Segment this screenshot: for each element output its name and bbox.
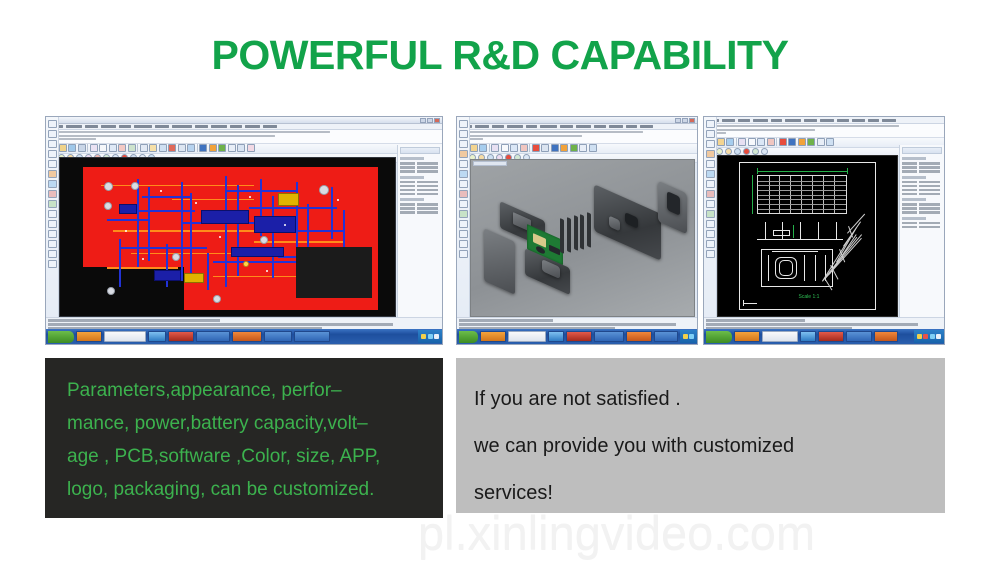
- cad-drawing-viewport[interactable]: Scale 1:1: [717, 155, 898, 317]
- tool-icon[interactable]: [128, 144, 136, 152]
- tool-icon[interactable]: [459, 140, 468, 148]
- tool-icon[interactable]: [767, 138, 775, 146]
- tool-icon[interactable]: [459, 220, 468, 228]
- taskbar-item[interactable]: [104, 331, 146, 342]
- tray-icon[interactable]: [936, 334, 941, 339]
- taskbar[interactable]: [704, 329, 944, 344]
- tool-icon[interactable]: [459, 160, 468, 168]
- tool-icon[interactable]: [779, 138, 787, 146]
- tool-icon[interactable]: [706, 200, 715, 208]
- tool-icon[interactable]: [716, 148, 723, 155]
- tool-icon[interactable]: [459, 180, 468, 188]
- tool-icon[interactable]: [706, 240, 715, 248]
- taskbar-item[interactable]: [734, 331, 760, 342]
- tool-icon[interactable]: [78, 144, 86, 152]
- cad-3d-viewport[interactable]: [470, 159, 695, 317]
- tool-icon[interactable]: [570, 144, 578, 152]
- screenshot-pcb-layout-software[interactable]: [45, 116, 443, 345]
- tool-icon[interactable]: [798, 138, 806, 146]
- system-tray[interactable]: [418, 330, 442, 343]
- tool-icon[interactable]: [68, 144, 76, 152]
- tool-icon[interactable]: [48, 220, 57, 228]
- minimize-icon[interactable]: [675, 118, 681, 123]
- start-button[interactable]: [459, 331, 478, 343]
- taskbar-item[interactable]: [846, 331, 872, 342]
- tool-icon[interactable]: [470, 144, 478, 152]
- page-title: POWERFUL R&D CAPABILITY: [0, 32, 1000, 79]
- slide-root: POWERFUL R&D CAPABILITY: [0, 0, 1000, 572]
- screenshot-3d-cad-exploded-view[interactable]: [456, 116, 698, 345]
- taskbar-item[interactable]: [232, 331, 262, 342]
- tool-icon[interactable]: [551, 144, 559, 152]
- status-bar: [704, 317, 944, 329]
- tool-icon[interactable]: [706, 180, 715, 188]
- tool-icon[interactable]: [706, 220, 715, 228]
- taskbar-item[interactable]: [294, 331, 330, 342]
- panel-text-line: If you are not satisfied .: [474, 376, 945, 423]
- window-titlebar: [457, 117, 697, 124]
- properties-pane[interactable]: [899, 145, 944, 317]
- taskbar-item[interactable]: [548, 331, 564, 342]
- left-tool-rail[interactable]: [704, 117, 717, 344]
- address-rows: [46, 130, 442, 144]
- taskbar-item[interactable]: [264, 331, 292, 342]
- tool-icon[interactable]: [118, 144, 126, 152]
- tool-icon[interactable]: [706, 190, 715, 198]
- pane-header: [902, 147, 942, 154]
- tool-icon[interactable]: [48, 130, 57, 138]
- grid-panel: [757, 175, 847, 213]
- start-button[interactable]: [48, 331, 74, 343]
- status-bar: [457, 317, 697, 329]
- tool-icon[interactable]: [159, 144, 167, 152]
- tool-icon[interactable]: [459, 230, 468, 238]
- tool-icon[interactable]: [48, 250, 57, 258]
- tool-icon[interactable]: [48, 120, 57, 128]
- pcb-board: [83, 167, 378, 309]
- tool-icon[interactable]: [218, 144, 226, 152]
- tool-icon[interactable]: [459, 150, 468, 158]
- left-tool-rail[interactable]: [46, 117, 59, 344]
- tool-icon[interactable]: [48, 260, 57, 268]
- taskbar-item[interactable]: [874, 331, 898, 342]
- taskbar[interactable]: [457, 329, 697, 344]
- taskbar-item[interactable]: [818, 331, 844, 342]
- properties-pane[interactable]: [397, 145, 442, 317]
- tool-icon[interactable]: [826, 138, 834, 146]
- tool-icon[interactable]: [237, 144, 245, 152]
- tool-icon[interactable]: [140, 144, 148, 152]
- tool-icon[interactable]: [520, 144, 528, 152]
- start-button[interactable]: [706, 331, 732, 343]
- panel-text-line: mance, power,battery capacity,volt–: [67, 407, 425, 440]
- panel-text-line: we can provide you with customized: [474, 423, 945, 470]
- tool-icon[interactable]: [706, 160, 715, 168]
- tool-icon[interactable]: [748, 138, 756, 146]
- taskbar-item[interactable]: [566, 331, 592, 342]
- system-tray[interactable]: [680, 330, 698, 343]
- taskbar-item[interactable]: [626, 331, 652, 342]
- tool-icon[interactable]: [459, 170, 468, 178]
- tray-icon[interactable]: [683, 334, 688, 339]
- tool-icon[interactable]: [48, 200, 57, 208]
- tool-icon[interactable]: [48, 190, 57, 198]
- system-tray[interactable]: [914, 330, 945, 343]
- maximize-icon[interactable]: [682, 118, 688, 123]
- taskbar-item[interactable]: [654, 331, 678, 342]
- tray-icon[interactable]: [689, 334, 694, 339]
- tool-icon[interactable]: [48, 160, 57, 168]
- viewport-tab[interactable]: [473, 161, 507, 166]
- toolbar-primary[interactable]: [457, 144, 697, 154]
- tool-icon[interactable]: [706, 170, 715, 178]
- maximize-icon[interactable]: [427, 118, 433, 123]
- panel-text-line: age , PCB,software ,Color, size, APP,: [67, 440, 425, 473]
- tool-icon[interactable]: [459, 250, 468, 258]
- panel-text-line: logo, packaging, can be customized.: [67, 473, 425, 506]
- window-controls[interactable]: [675, 118, 695, 123]
- panel-text-line: Parameters,appearance, perfor–: [67, 374, 425, 407]
- tool-icon[interactable]: [560, 144, 568, 152]
- tool-icon[interactable]: [48, 230, 57, 238]
- tool-icon[interactable]: [541, 144, 549, 152]
- tool-icon[interactable]: [532, 144, 540, 152]
- tray-icon[interactable]: [923, 334, 928, 339]
- tool-icon[interactable]: [706, 140, 715, 148]
- close-icon[interactable]: [434, 118, 440, 123]
- address-rows: [457, 130, 697, 144]
- tool-icon[interactable]: [510, 144, 518, 152]
- taskbar-item[interactable]: [800, 331, 816, 342]
- tool-icon[interactable]: [706, 120, 715, 128]
- tool-icon[interactable]: [109, 144, 117, 152]
- tool-icon[interactable]: [48, 170, 57, 178]
- close-icon[interactable]: [689, 118, 695, 123]
- tool-icon[interactable]: [459, 240, 468, 248]
- taskbar-item[interactable]: [196, 331, 230, 342]
- tool-icon[interactable]: [706, 230, 715, 238]
- tool-icon[interactable]: [187, 144, 195, 152]
- tool-icon[interactable]: [757, 138, 765, 146]
- tool-icon[interactable]: [491, 144, 499, 152]
- screenshot-cad-wireframe-drawing[interactable]: Scale 1:1: [703, 116, 945, 345]
- tool-icon[interactable]: [459, 130, 468, 138]
- tool-icon[interactable]: [752, 148, 759, 155]
- tool-icon[interactable]: [589, 144, 597, 152]
- tool-icon[interactable]: [501, 144, 509, 152]
- taskbar-item[interactable]: [168, 331, 194, 342]
- tool-icon[interactable]: [48, 210, 57, 218]
- taskbar-item[interactable]: [508, 331, 546, 342]
- tool-icon[interactable]: [761, 148, 768, 155]
- window-titlebar: [46, 117, 442, 124]
- pcb-canvas[interactable]: [59, 157, 396, 317]
- status-bar: [46, 317, 442, 329]
- tool-icon[interactable]: [734, 148, 741, 155]
- tool-icon[interactable]: [725, 148, 732, 155]
- tool-icon[interactable]: [149, 144, 157, 152]
- taskbar-item[interactable]: [480, 331, 506, 342]
- customization-options-panel: Parameters,appearance, perfor– mance, po…: [45, 358, 443, 518]
- tool-icon[interactable]: [168, 144, 176, 152]
- tool-icon[interactable]: [90, 144, 98, 152]
- tool-icon[interactable]: [48, 240, 57, 248]
- tray-icon[interactable]: [930, 334, 935, 339]
- taskbar-item[interactable]: [148, 331, 166, 342]
- address-rows: [704, 124, 944, 138]
- tool-icon[interactable]: [209, 144, 217, 152]
- tray-icon[interactable]: [917, 334, 922, 339]
- tool-icon[interactable]: [743, 148, 750, 155]
- tool-icon[interactable]: [459, 120, 468, 128]
- tray-icon[interactable]: [421, 334, 426, 339]
- tool-icon[interactable]: [459, 190, 468, 198]
- tool-icon[interactable]: [817, 138, 825, 146]
- tool-icon[interactable]: [99, 144, 107, 152]
- tool-icon[interactable]: [59, 144, 67, 152]
- pane-header: [400, 147, 440, 154]
- tool-icon[interactable]: [788, 138, 796, 146]
- toolbar-primary[interactable]: [46, 144, 442, 154]
- tray-icon[interactable]: [434, 334, 439, 339]
- tool-icon[interactable]: [717, 138, 725, 146]
- minimize-icon[interactable]: [420, 118, 426, 123]
- menu-bar[interactable]: [704, 117, 944, 124]
- taskbar[interactable]: [46, 329, 442, 344]
- left-tool-rail[interactable]: [457, 117, 470, 344]
- tool-icon[interactable]: [726, 138, 734, 146]
- tool-icon[interactable]: [738, 138, 746, 146]
- tool-icon[interactable]: [459, 200, 468, 208]
- taskbar-item[interactable]: [76, 331, 102, 342]
- tool-icon[interactable]: [178, 144, 186, 152]
- tool-icon[interactable]: [199, 144, 207, 152]
- customized-services-panel: If you are not satisfied . we can provid…: [456, 358, 945, 513]
- tool-icon[interactable]: [706, 250, 715, 258]
- tool-icon[interactable]: [459, 210, 468, 218]
- tray-icon[interactable]: [428, 334, 433, 339]
- tool-icon[interactable]: [48, 150, 57, 158]
- window-controls[interactable]: [420, 118, 440, 123]
- tool-icon[interactable]: [706, 150, 715, 158]
- tool-icon[interactable]: [579, 144, 587, 152]
- dimension-line: [757, 171, 847, 172]
- tool-icon[interactable]: [479, 144, 487, 152]
- tool-icon[interactable]: [706, 130, 715, 138]
- watermark: pl.xinlingvideo.com: [418, 505, 815, 560]
- taskbar-item[interactable]: [594, 331, 624, 342]
- tool-icon[interactable]: [807, 138, 815, 146]
- drawing-label: Scale 1:1: [799, 294, 820, 300]
- tool-icon[interactable]: [247, 144, 255, 152]
- tool-icon[interactable]: [228, 144, 236, 152]
- tool-icon[interactable]: [48, 140, 57, 148]
- tool-icon[interactable]: [48, 180, 57, 188]
- tool-icon[interactable]: [706, 210, 715, 218]
- taskbar-item[interactable]: [762, 331, 798, 342]
